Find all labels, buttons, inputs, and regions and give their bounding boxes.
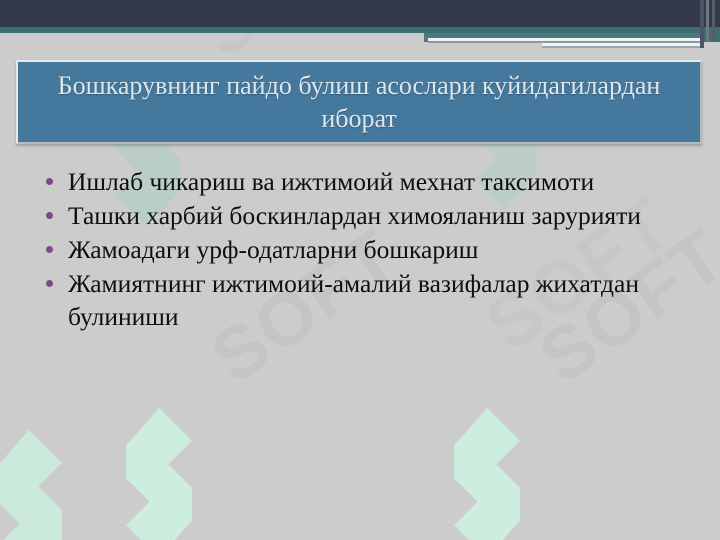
bullet-dot-icon (46, 234, 68, 253)
header-right-edge-3 (712, 0, 715, 40)
list-item: Ташки харбий боскинлардан химояланиш зар… (46, 200, 676, 232)
bullet-dot-icon (46, 166, 68, 185)
watermark-logo-icon (428, 408, 546, 540)
slide-title-text: Бошкарувнинг пайдо булиш асослари куйида… (18, 69, 700, 136)
slide-bullet-list: Ишлаб чикариш ва ижтимоий мехнат таксимо… (46, 166, 676, 335)
header-right-edge-2 (706, 0, 709, 42)
watermark-logo-icon (0, 430, 88, 540)
watermark-logo-icon (100, 408, 218, 540)
header-rule-lower-shadow (542, 46, 700, 48)
slide-title-box: Бошкарувнинг пайдо булиш асослари куйида… (16, 60, 702, 144)
list-item: Жамоадаги урф-одатларни бошкариш (46, 234, 676, 266)
list-item: Ишлаб чикариш ва ижтимоий мехнат таксимо… (46, 166, 676, 198)
list-item-label: Жамиятнинг ижтимоий-амалий вазифалар жих… (68, 268, 676, 332)
bullet-dot-icon (46, 200, 68, 219)
slide-canvas: SOFT SOFT SOFT SOFT SOFT Бошкарувнинг па… (0, 0, 720, 540)
list-item-label: Ишлаб чикариш ва ижтимоий мехнат таксимо… (68, 166, 676, 198)
header-right-edge-1 (700, 0, 704, 48)
list-item-label: Ташки харбий боскинлардан химояланиш зар… (68, 200, 676, 232)
list-item: Жамиятнинг ижтимоий-амалий вазифалар жих… (46, 268, 676, 332)
list-item-label: Жамоадаги урф-одатларни бошкариш (68, 234, 676, 266)
bullet-dot-icon (46, 268, 68, 287)
header-dark-band (0, 0, 720, 27)
